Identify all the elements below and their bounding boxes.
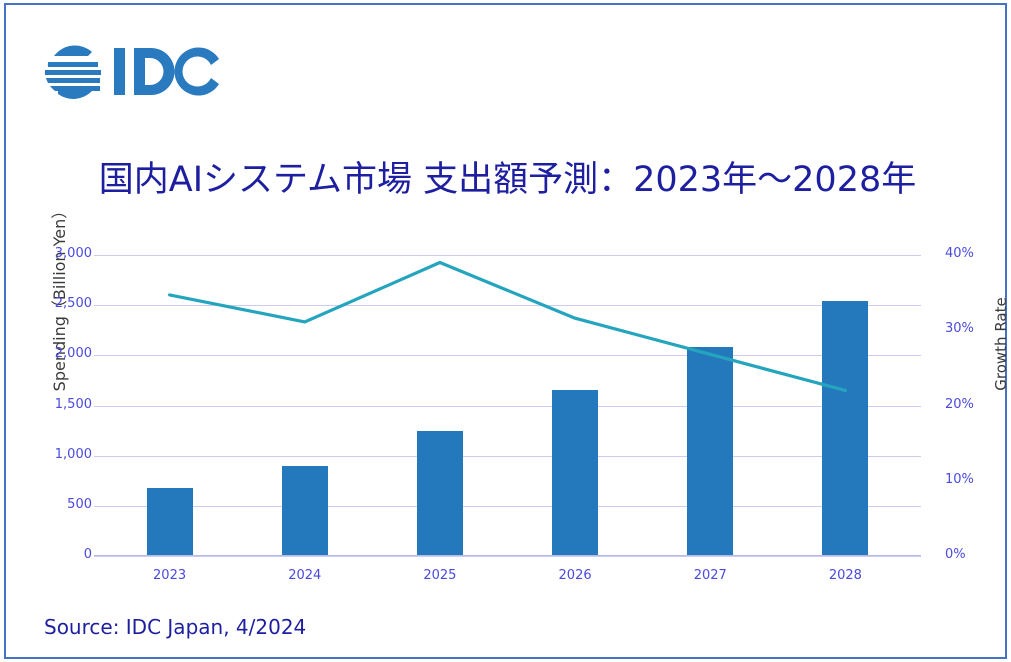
y-axis-left-tick-label: 1,000 bbox=[34, 447, 92, 462]
y-axis-left-tick-label: 0 bbox=[34, 547, 92, 562]
y-axis-left-tick-label: 500 bbox=[34, 497, 92, 512]
idc-logo bbox=[44, 38, 224, 100]
y-axis-right-ticks: 0%10%20%30%40% bbox=[931, 255, 991, 556]
y-axis-left-tick-label: 2,000 bbox=[34, 346, 92, 361]
y-axis-right-tick-label: 0% bbox=[945, 547, 999, 562]
x-axis-ticks: 202320242025202620272028 bbox=[102, 568, 913, 588]
y-axis-left-tick-label: 1,500 bbox=[34, 397, 92, 412]
x-axis-tick-label: 2025 bbox=[390, 568, 490, 583]
y-axis-right-tick-label: 30% bbox=[945, 321, 999, 336]
x-axis-tick-label: 2027 bbox=[660, 568, 760, 583]
chart-card: 国内AIシステム市場 支出額予測：2023年～2028年 Spending（Bi… bbox=[4, 3, 1007, 659]
gridline bbox=[94, 556, 921, 557]
x-axis-tick-label: 2026 bbox=[525, 568, 625, 583]
plot-area bbox=[102, 255, 913, 556]
y-axis-right-tick-label: 40% bbox=[945, 246, 999, 261]
y-axis-right-tick-label: 10% bbox=[945, 472, 999, 487]
y-axis-left-tick-label: 3,000 bbox=[34, 246, 92, 261]
x-axis-tick-label: 2028 bbox=[795, 568, 895, 583]
page-title: 国内AIシステム市場 支出額予測：2023年～2028年 bbox=[6, 151, 1009, 202]
source-note: Source: IDC Japan, 4/2024 bbox=[44, 615, 306, 639]
growth-rate-line-series bbox=[102, 255, 913, 556]
x-axis-tick-label: 2024 bbox=[255, 568, 355, 583]
y-axis-left-tick-label: 2,500 bbox=[34, 296, 92, 311]
x-axis-tick-label: 2023 bbox=[120, 568, 220, 583]
y-axis-left-ticks: 05001,0001,5002,0002,5003,000 bbox=[28, 255, 92, 556]
idc-logo-mark bbox=[44, 38, 224, 100]
y-axis-right-tick-label: 20% bbox=[945, 397, 999, 412]
growth-rate-polyline bbox=[170, 263, 846, 391]
